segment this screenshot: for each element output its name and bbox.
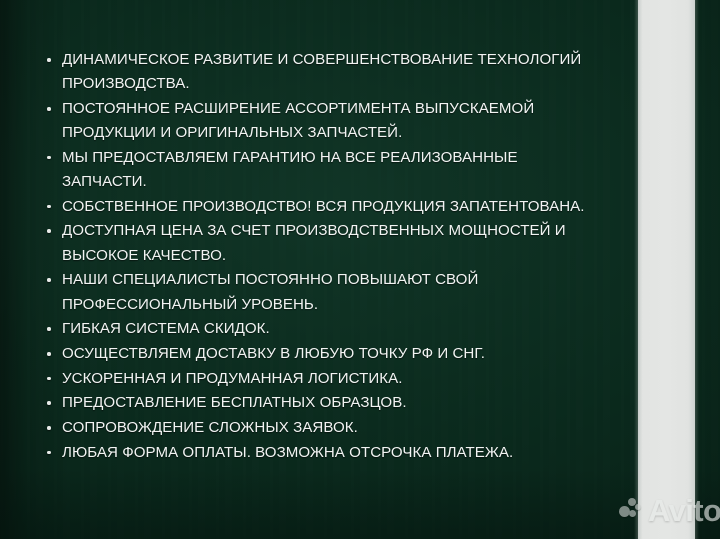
list-item: ПОСТОЯННОЕ РАСШИРЕНИЕ АССОРТИМЕНТА ВЫПУС… bbox=[44, 97, 604, 145]
list-item-label: ПРЕДОСТАВЛЕНИЕ БЕСПЛАТНЫХ ОБРАЗЦОВ. bbox=[62, 391, 604, 415]
list-item-label: УСКОРЕННАЯ И ПРОДУМАННАЯ ЛОГИСТИКА. bbox=[62, 367, 604, 391]
list-item-label: ГИБКАЯ СИСТЕМА СКИДОК. bbox=[62, 317, 604, 341]
list-item: ГИБКАЯ СИСТЕМА СКИДОК. bbox=[44, 317, 604, 341]
list-item-label: СОПРОВОЖДЕНИЕ СЛОЖНЫХ ЗАЯВОК. bbox=[62, 416, 604, 440]
list-item-label: ПОСТОЯННОЕ РАСШИРЕНИЕ АССОРТИМЕНТА ВЫПУС… bbox=[62, 97, 604, 145]
list-item: НАШИ СПЕЦИАЛИСТЫ ПОСТОЯННО ПОВЫШАЮТ СВОЙ… bbox=[44, 268, 604, 316]
list-item-label: НАШИ СПЕЦИАЛИСТЫ ПОСТОЯННО ПОВЫШАЮТ СВОЙ… bbox=[62, 268, 604, 316]
advantages-bullet-list: ДИНАМИЧЕСКОЕ РАЗВИТИЕ И СОВЕРШЕНСТВОВАНИ… bbox=[44, 48, 604, 465]
list-item-label: МЫ ПРЕДОСТАВЛЯЕМ ГАРАНТИЮ НА ВСЕ РЕАЛИЗО… bbox=[62, 146, 604, 194]
slide-canvas: ДИНАМИЧЕСКОЕ РАЗВИТИЕ И СОВЕРШЕНСТВОВАНИ… bbox=[0, 0, 720, 539]
list-item: ЛЮБАЯ ФОРМА ОПЛАТЫ. ВОЗМОЖНА ОТСРОЧКА ПЛ… bbox=[44, 441, 604, 465]
list-item-label: ДИНАМИЧЕСКОЕ РАЗВИТИЕ И СОВЕРШЕНСТВОВАНИ… bbox=[62, 48, 604, 96]
list-item: СОПРОВОЖДЕНИЕ СЛОЖНЫХ ЗАЯВОК. bbox=[44, 416, 604, 440]
list-item: УСКОРЕННАЯ И ПРОДУМАННАЯ ЛОГИСТИКА. bbox=[44, 367, 604, 391]
list-item: ОСУЩЕСТВЛЯЕМ ДОСТАВКУ В ЛЮБУЮ ТОЧКУ РФ И… bbox=[44, 342, 604, 366]
list-item-label: ОСУЩЕСТВЛЯЕМ ДОСТАВКУ В ЛЮБУЮ ТОЧКУ РФ И… bbox=[62, 342, 604, 366]
list-item-label: ДОСТУПНАЯ ЦЕНА ЗА СЧЕТ ПРОИЗВОДСТВЕННЫХ … bbox=[62, 219, 604, 267]
list-item-label: ЛЮБАЯ ФОРМА ОПЛАТЫ. ВОЗМОЖНА ОТСРОЧКА ПЛ… bbox=[62, 441, 604, 465]
list-item: ДОСТУПНАЯ ЦЕНА ЗА СЧЕТ ПРОИЗВОДСТВЕННЫХ … bbox=[44, 219, 604, 267]
list-item: МЫ ПРЕДОСТАВЛЯЕМ ГАРАНТИЮ НА ВСЕ РЕАЛИЗО… bbox=[44, 146, 604, 194]
list-item: ДИНАМИЧЕСКОЕ РАЗВИТИЕ И СОВЕРШЕНСТВОВАНИ… bbox=[44, 48, 604, 96]
list-item: ПРЕДОСТАВЛЕНИЕ БЕСПЛАТНЫХ ОБРАЗЦОВ. bbox=[44, 391, 604, 415]
list-item-label: СОБСТВЕННОЕ ПРОИЗВОДСТВО! ВСЯ ПРОДУКЦИЯ … bbox=[62, 195, 604, 219]
list-item: СОБСТВЕННОЕ ПРОИЗВОДСТВО! ВСЯ ПРОДУКЦИЯ … bbox=[44, 195, 604, 219]
